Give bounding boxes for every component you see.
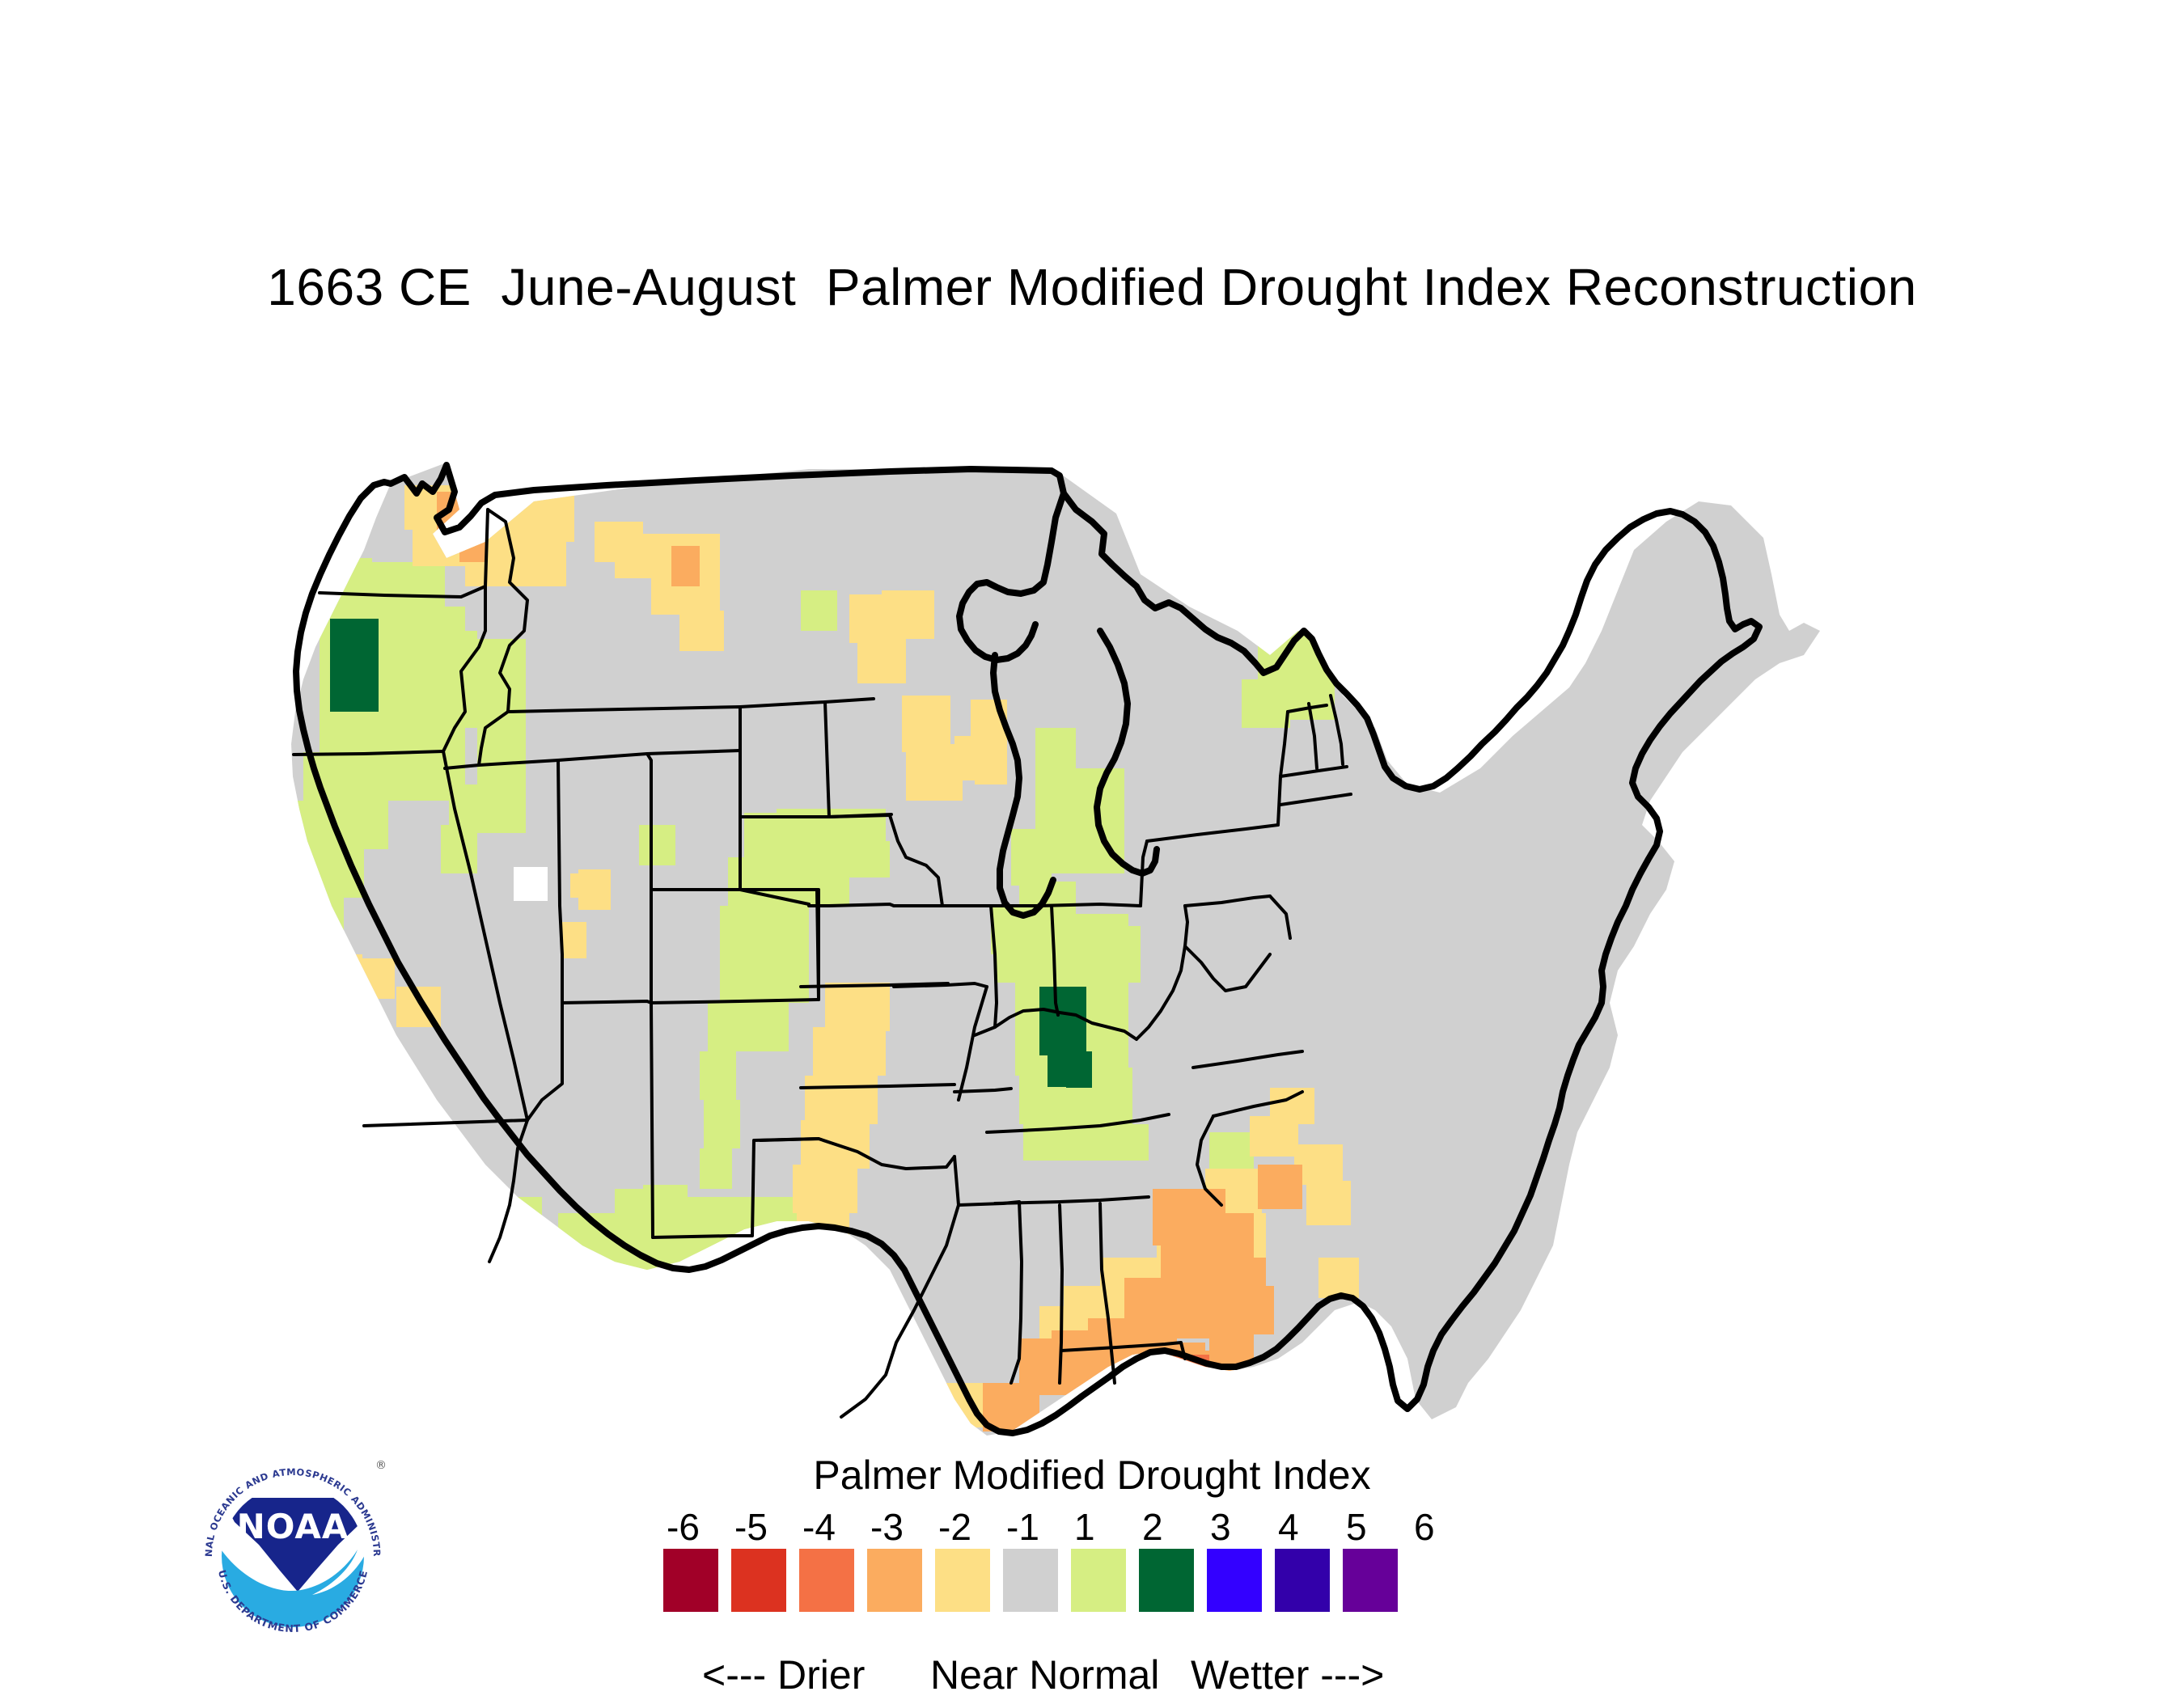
- legend-swatch-p2[interactable]: [1139, 1549, 1194, 1612]
- legend-swatch-n6[interactable]: [663, 1549, 718, 1612]
- legend-col-p6: 6: [1411, 1505, 1459, 1549]
- legend-col-n3[interactable]: -3: [867, 1505, 925, 1612]
- legend-direction-labels: <--- Drier Near Normal Wetter --->: [663, 1651, 1521, 1700]
- page-title: 1663 CE June-August Palmer Modified Drou…: [0, 257, 2184, 317]
- legend-swatch-p5[interactable]: [1343, 1549, 1398, 1612]
- legend-tick-n1: -1: [1003, 1505, 1061, 1549]
- legend-tick-p2: 2: [1139, 1505, 1197, 1549]
- pmdi-map: [243, 388, 2022, 1440]
- legend-drier-label: <--- Drier: [702, 1651, 865, 1698]
- legend-swatch-near-normal[interactable]: [1003, 1549, 1058, 1612]
- registered-trademark-icon: ®: [375, 1459, 387, 1472]
- legend-col-n6[interactable]: -6: [663, 1505, 722, 1612]
- legend-col-near-normal[interactable]: -1: [1003, 1505, 1061, 1612]
- legend-swatch-n3[interactable]: [867, 1549, 922, 1612]
- legend-wetter-label: Wetter --->: [1191, 1651, 1384, 1698]
- legend-tick-p1: 1: [1071, 1505, 1129, 1549]
- legend-swatch-n4[interactable]: [799, 1549, 854, 1612]
- legend-tick-n4: -4: [799, 1505, 857, 1549]
- legend-swatch-p3[interactable]: [1207, 1549, 1262, 1612]
- legend-col-p2[interactable]: 2: [1139, 1505, 1197, 1612]
- legend-tick-n3: -3: [867, 1505, 925, 1549]
- noaa-wordmark: NOAA: [237, 1507, 349, 1546]
- legend-tick-n2: -2: [935, 1505, 993, 1549]
- legend-col-n2[interactable]: -2: [935, 1505, 993, 1612]
- legend-col-p5[interactable]: 5: [1343, 1505, 1401, 1612]
- legend-tick-p3: 3: [1207, 1505, 1265, 1549]
- legend-col-n5[interactable]: -5: [731, 1505, 789, 1612]
- cell-no-data: [514, 867, 548, 901]
- us-pmdi-choropleth: [243, 388, 2022, 1440]
- legend-col-p1[interactable]: 1: [1071, 1505, 1129, 1612]
- legend-swatch-p4[interactable]: [1275, 1549, 1330, 1612]
- legend-tick-p4: 4: [1275, 1505, 1333, 1549]
- noaa-logo: NOAA NATIONAL OCEANIC AND ATMOSPHERIC AD…: [184, 1448, 401, 1664]
- legend-swatch-strip: -6 -5 -4 -3 -2 -1 1 2: [663, 1505, 1521, 1647]
- legend-swatch-n5[interactable]: [731, 1549, 786, 1612]
- legend-near-normal-label: Near Normal: [930, 1651, 1159, 1698]
- legend-col-p3[interactable]: 3: [1207, 1505, 1265, 1612]
- legend-tick-p5: 5: [1343, 1505, 1401, 1549]
- legend-col-p4[interactable]: 4: [1275, 1505, 1333, 1612]
- legend-swatch-n2[interactable]: [935, 1549, 990, 1612]
- legend-tick-n6: -6: [663, 1505, 722, 1549]
- legend-col-n4[interactable]: -4: [799, 1505, 857, 1612]
- noaa-logo-svg: NOAA NATIONAL OCEANIC AND ATMOSPHERIC AD…: [184, 1448, 401, 1664]
- legend-tick-p6: 6: [1411, 1505, 1459, 1549]
- legend-swatch-p1[interactable]: [1071, 1549, 1126, 1612]
- legend-tick-n5: -5: [731, 1505, 789, 1549]
